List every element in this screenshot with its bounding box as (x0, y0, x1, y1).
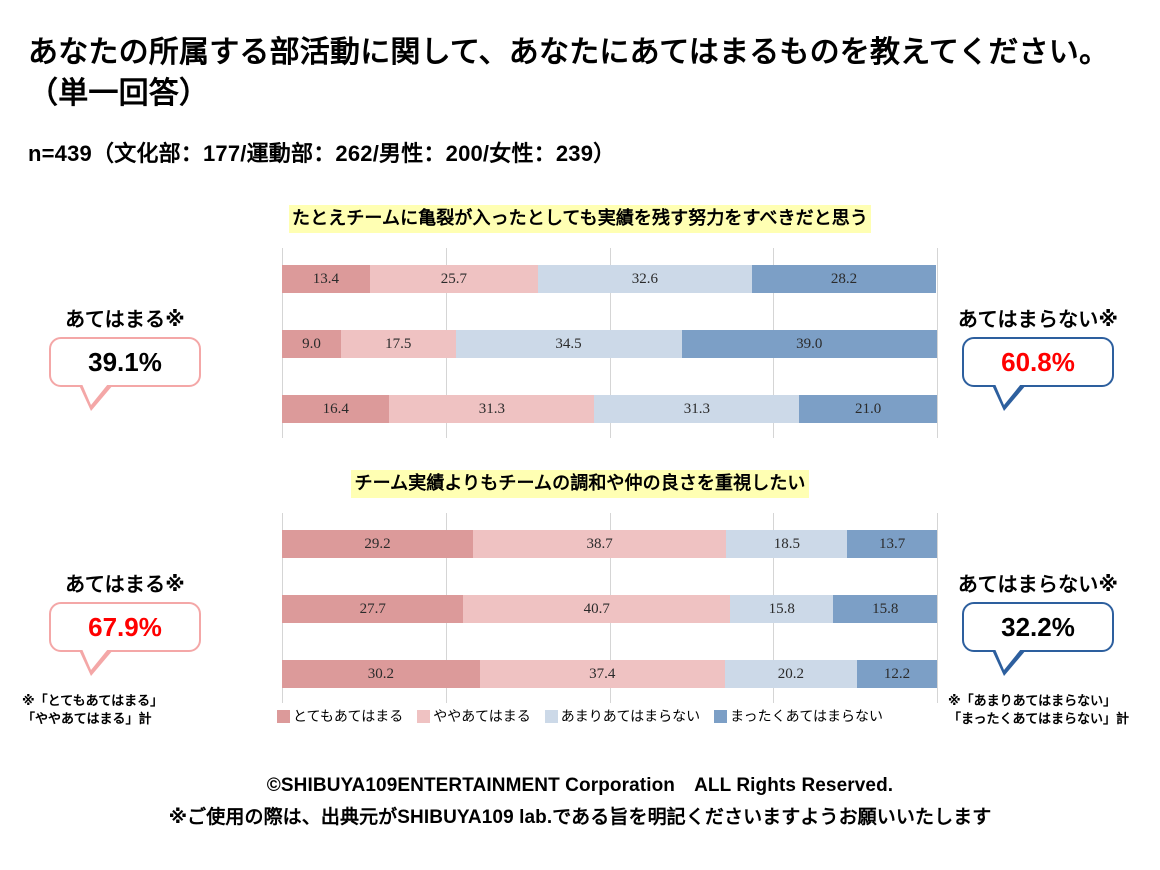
callout-bubble: 39.1% (49, 337, 201, 387)
callout-applies-chart1: あてはまる※ 39.1% (25, 303, 225, 387)
legend-label: あまりあてはまらない (561, 706, 700, 726)
legend-item: とてもあてはまる (277, 706, 403, 726)
legend-item: ややあてはまる (417, 706, 530, 726)
chart-legend: とてもあてはまるややあてはまるあまりあてはまらないまったくあてはまらない (0, 706, 1160, 726)
callout-bubble: 32.2% (962, 602, 1114, 652)
bar-segment: 29.2 (282, 530, 473, 558)
callout-not-applies-chart2: あてはまらない※ 32.2% (938, 568, 1138, 652)
legend-swatch-icon (714, 710, 727, 723)
bar-segment: 12.2 (857, 660, 937, 688)
bar-segment: 25.7 (370, 265, 538, 293)
bar-segment: 13.7 (847, 530, 937, 558)
bar-segment: 37.4 (480, 660, 725, 688)
callout-bubble: 60.8% (962, 337, 1114, 387)
bubble-tail-icon (79, 650, 113, 676)
plot-area-2: 29.238.718.513.7 27.740.715.815.8 30.237… (282, 513, 937, 703)
chart-title-2: チーム実績よりもチームの調和や仲の良さを重視したい (351, 470, 808, 498)
callout-head: あてはまらない※ (938, 303, 1138, 332)
callout-applies-chart2: あてはまる※ 67.9% (25, 568, 225, 652)
bar-segment: 28.2 (752, 265, 937, 293)
legend-swatch-icon (417, 710, 430, 723)
bar-segment: 15.8 (833, 595, 936, 623)
copyright-line: ©SHIBUYA109ENTERTAINMENT Corporation ALL… (0, 770, 1160, 797)
bar-segment: 32.6 (538, 265, 752, 293)
bubble-tail-icon (79, 385, 113, 411)
callout-head: あてはまらない※ (938, 568, 1138, 597)
legend-swatch-icon (545, 710, 558, 723)
bar-segment: 30.2 (282, 660, 480, 688)
bar-segment: 20.2 (725, 660, 857, 688)
bubble-tail-icon (992, 385, 1026, 411)
bar-row: 13.425.732.628.2 (282, 265, 937, 293)
bubble-tail-icon (992, 650, 1026, 676)
bar-row: 29.238.718.513.7 (282, 530, 937, 558)
chart-title-wrap-2: チーム実績よりもチームの調和や仲の良さを重視したい (0, 470, 1160, 498)
callout-value: 39.1% (88, 347, 162, 378)
usage-note-line: ※ご使用の際は、出典元がSHIBUYA109 lab.である旨を明記くださいます… (0, 802, 1160, 829)
bar-segment: 17.5 (341, 330, 456, 358)
slide-root: あなたの所属する部活動に関して、あなたにあてはまるものを教えてください。（単一回… (0, 0, 1160, 870)
legend-item: まったくあてはまらない (714, 706, 883, 726)
callout-not-applies-chart1: あてはまらない※ 60.8% (938, 303, 1138, 387)
sample-size-label: n=439（文化部：177/運動部：262/男性：200/女性：239） (28, 136, 615, 168)
callout-value: 32.2% (1001, 612, 1075, 643)
bar-segment: 9.0 (282, 330, 341, 358)
legend-label: とてもあてはまる (293, 706, 403, 726)
callout-value: 60.8% (1001, 347, 1075, 378)
bar-row: 27.740.715.815.8 (282, 595, 937, 623)
bar-segment: 27.7 (282, 595, 463, 623)
callout-value: 67.9% (88, 612, 162, 643)
page-title: あなたの所属する部活動に関して、あなたにあてはまるものを教えてください。（単一回… (28, 32, 1128, 114)
legend-label: ややあてはまる (433, 706, 530, 726)
bar-row: 16.431.331.321.0 (282, 395, 937, 423)
bar-segment: 40.7 (463, 595, 730, 623)
chart-title-wrap-1: たとえチームに亀裂が入ったとしても実績を残す努力をすべきだと思う (0, 205, 1160, 233)
bar-row: 9.017.534.539.0 (282, 330, 937, 358)
bar-segment: 31.3 (594, 395, 799, 423)
bar-segment: 21.0 (799, 395, 937, 423)
chart-title-1: たとえチームに亀裂が入ったとしても実績を残す努力をすべきだと思う (289, 205, 871, 233)
legend-swatch-icon (277, 710, 290, 723)
legend-item: あまりあてはまらない (545, 706, 700, 726)
callout-head: あてはまる※ (25, 303, 225, 332)
legend-label: まったくあてはまらない (730, 706, 883, 726)
bar-segment: 34.5 (456, 330, 682, 358)
bar-segment: 38.7 (473, 530, 726, 558)
bar-segment: 18.5 (726, 530, 847, 558)
bar-row: 30.237.420.212.2 (282, 660, 937, 688)
bar-segment: 31.3 (389, 395, 594, 423)
bar-segment: 39.0 (682, 330, 937, 358)
plot-area-1: 13.425.732.628.2 9.017.534.539.0 16.431.… (282, 248, 937, 438)
bar-segment: 15.8 (730, 595, 833, 623)
callout-head: あてはまる※ (25, 568, 225, 597)
bar-segment: 16.4 (282, 395, 389, 423)
bar-segment: 13.4 (282, 265, 370, 293)
callout-bubble: 67.9% (49, 602, 201, 652)
